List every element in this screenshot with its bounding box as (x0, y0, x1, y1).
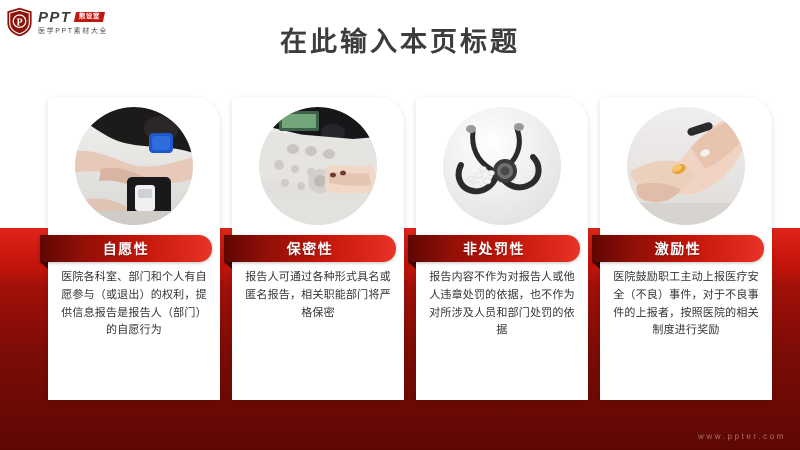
card-banner: 激励性 (592, 235, 764, 262)
card-banner: 自愿性 (40, 235, 212, 262)
card-banner-label: 非处罚性 (463, 239, 525, 259)
card-row: 自愿性 医院各科室、部门和个人有自愿参与（或退出）的权利，提供信息报告是报告人（… (0, 0, 800, 450)
content-card[interactable]: 激励性 医院鼓励职工主动上报医疗安全（不良）事件，对于不良事件的上报者，按照医院… (600, 97, 772, 400)
card-banner-label: 自愿性 (103, 239, 150, 259)
card-photo (48, 105, 220, 227)
card-body-text: 报告人可通过各种形式具名或匿名报告，相关职能部门将严格保密 (242, 269, 394, 322)
card-banner-label: 激励性 (655, 239, 702, 259)
content-card[interactable]: 保密性 报告人可通过各种形式具名或匿名报告，相关职能部门将严格保密 (232, 97, 404, 400)
card-photo (232, 105, 404, 227)
ultrasound-console-photo (259, 107, 377, 225)
banner-fold-shape (408, 262, 416, 269)
page-title: 在此输入本页标题 (0, 20, 800, 59)
card-banner: 非处罚性 (408, 235, 580, 262)
card-photo (600, 105, 772, 227)
card-body-text: 报告内容不作为对报告人或他人违章处罚的依据，也不作为对所涉及人员和部门处罚的依据 (426, 269, 578, 340)
blood-pressure-measurement-photo (75, 107, 193, 225)
card-photo (416, 105, 588, 227)
banner-fold-shape (224, 262, 232, 269)
card-banner: 保密性 (224, 235, 396, 262)
banner-fold-shape (40, 262, 48, 269)
card-body-text: 医院各科室、部门和个人有自愿参与（或退出）的权利，提供信息报告是报告人（部门）的… (58, 269, 210, 340)
content-card[interactable]: 非处罚性 报告内容不作为对报告人或他人违章处罚的依据，也不作为对所涉及人员和部门… (416, 97, 588, 400)
hands-holding-pill-photo (627, 107, 745, 225)
card-banner-label: 保密性 (287, 239, 334, 259)
card-body-text: 医院鼓励职工主动上报医疗安全（不良）事件，对于不良事件的上报者，按照医院的相关制… (610, 269, 762, 340)
site-watermark: www.ppter.com (698, 432, 786, 441)
banner-fold-shape (592, 262, 600, 269)
slide-canvas: P PPT 熊设室 医学PPT素材大全 在此输入本页标题 (0, 0, 800, 450)
content-card[interactable]: 自愿性 医院各科室、部门和个人有自愿参与（或退出）的权利，提供信息报告是报告人（… (48, 97, 220, 400)
stethoscope-and-pills-photo (443, 107, 561, 225)
